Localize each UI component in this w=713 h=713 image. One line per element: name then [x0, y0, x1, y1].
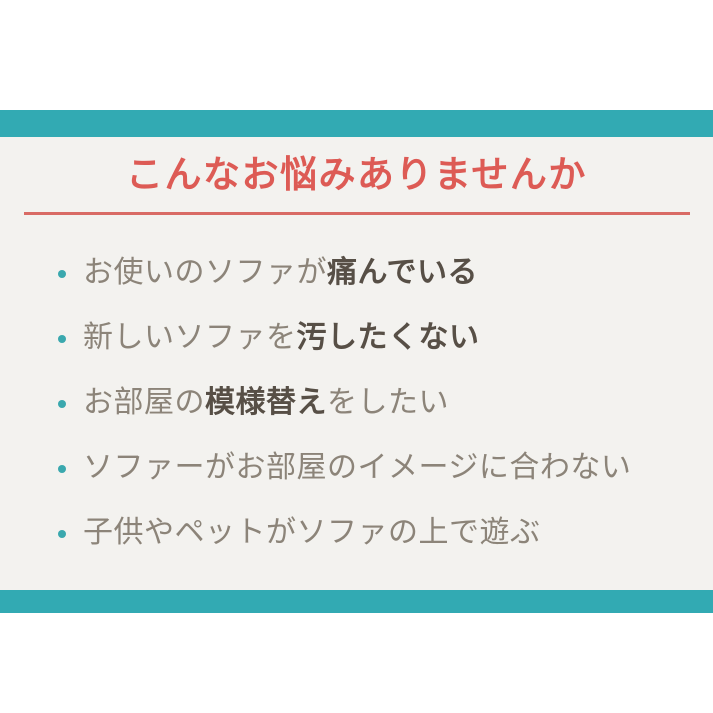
bullet-dot-icon: [58, 270, 66, 278]
list-item-label: ソファーがお部屋のイメージに合わない: [83, 453, 631, 483]
bottom-white-margin: [0, 613, 713, 713]
list-item: 子供やペットがソファの上で遊ぶ: [58, 500, 698, 565]
concerns-list: お使いのソファが痛んでいる新しいソファを汚したくないお部屋の模様替えをしたいソフ…: [58, 240, 698, 565]
emphasis-text: 痛んでいる: [327, 256, 478, 289]
page-title: こんなお悩みありませんか: [0, 155, 713, 196]
emphasis-text: 模様替え: [205, 386, 327, 419]
bullet-dot-icon: [58, 400, 66, 408]
top-teal-bar: [0, 110, 713, 137]
bullet-dot-icon: [58, 465, 66, 473]
plain-text: をしたい: [327, 386, 449, 419]
list-item: ソファーがお部屋のイメージに合わない: [58, 435, 698, 500]
plain-text: 子供やペットがソファの上で遊ぶ: [83, 516, 541, 549]
bullet-dot-icon: [58, 335, 66, 343]
list-item-label: お部屋の模様替えをしたい: [83, 388, 449, 418]
list-item-label: 新しいソファを汚したくない: [83, 323, 480, 353]
list-item: 新しいソファを汚したくない: [58, 305, 698, 370]
list-item: お使いのソファが痛んでいる: [58, 240, 698, 305]
bottom-teal-bar: [0, 590, 713, 613]
bullet-dot-icon: [58, 530, 66, 538]
list-item-label: お使いのソファが痛んでいる: [83, 258, 478, 288]
plain-text: お使いのソファが: [83, 256, 327, 289]
list-item-label: 子供やペットがソファの上で遊ぶ: [83, 518, 541, 548]
plain-text: お部屋の: [83, 386, 205, 419]
top-white-margin: [0, 0, 713, 110]
promo-slide: こんなお悩みありませんか お使いのソファが痛んでいる新しいソファを汚したくないお…: [0, 0, 713, 713]
plain-text: 新しいソファを: [83, 321, 297, 354]
emphasis-text: 汚したくない: [297, 321, 480, 354]
plain-text: ソファーがお部屋のイメージに合わない: [83, 451, 631, 484]
list-item: お部屋の模様替えをしたい: [58, 370, 698, 435]
title-divider: [24, 212, 690, 215]
